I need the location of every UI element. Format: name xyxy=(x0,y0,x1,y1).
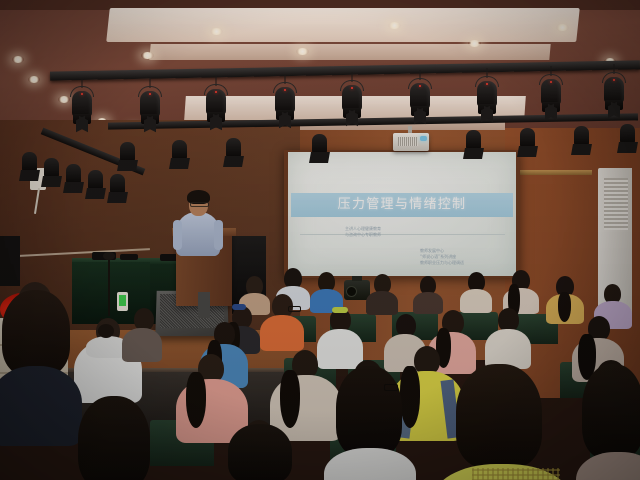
presenter-arm-right xyxy=(214,220,223,250)
hair-clip xyxy=(232,304,246,310)
projector-vent-grill xyxy=(398,137,418,146)
ceiling-downlight xyxy=(210,28,223,35)
projector-lens xyxy=(420,136,427,141)
ceiling-downlight xyxy=(296,48,309,55)
ceiling-downlight xyxy=(468,40,481,47)
slide-subtitle-left: 主讲人心理健康教育 与咨询中心专职教师 xyxy=(345,226,435,238)
hair-band xyxy=(332,307,348,313)
ceiling-soffit-upper-shadow xyxy=(149,44,550,60)
slide-title: 压力管理与情绪控制 xyxy=(291,195,513,215)
ceiling-downlight xyxy=(141,52,154,59)
air-conditioning-grill xyxy=(604,178,628,230)
ceiling-downlight xyxy=(58,96,70,103)
glasses-icon xyxy=(384,384,398,391)
presenter-glasses xyxy=(190,202,209,207)
presenter-arm-left xyxy=(173,220,182,250)
knit-pattern xyxy=(472,468,560,480)
ceiling-downlight xyxy=(556,24,569,31)
ceiling-downlight xyxy=(12,56,24,63)
glasses-icon xyxy=(288,306,301,312)
audience xyxy=(0,250,640,480)
hair-bun xyxy=(98,324,114,338)
ceiling-soffit-upper xyxy=(106,8,580,42)
ceiling-downlight xyxy=(388,22,401,29)
lecture-hall-photo: 压力管理与情绪控制 主讲人心理健康教育 与咨询中心专职教师 教师发展中心 “师说… xyxy=(0,0,640,480)
ceiling-downlight xyxy=(28,76,40,83)
slide-subtitle-line: 与咨询中心专职教师 xyxy=(345,232,435,238)
